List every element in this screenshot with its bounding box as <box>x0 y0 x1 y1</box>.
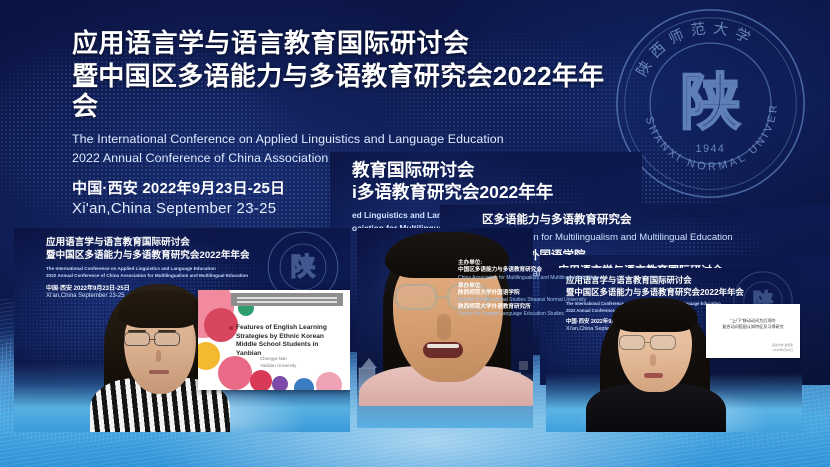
tile1-mouth <box>149 370 169 374</box>
tile3-slide-author: 延边大学 金熙永 <box>772 343 793 347</box>
slide-title: Features of English Learning Strategies … <box>236 324 340 359</box>
svg-text:陕: 陕 <box>291 252 316 281</box>
participant-tile-presenter-right[interactable]: 陕 应用语言学与语言教育国际研讨会 暨中国区多语能力与多语教育研究会2022年年… <box>546 268 802 432</box>
tile1-glasses-bridge <box>150 339 156 340</box>
title-en-line1: The International Conference on Applied … <box>72 132 612 146</box>
tile3-mouth <box>644 373 663 378</box>
svg-text:1944: 1944 <box>696 143 726 155</box>
layer2-org-en: a Association for Multilingualism and Mu… <box>482 232 830 243</box>
tile1-glasses-left-icon <box>124 332 150 346</box>
slide-blob-8 <box>294 378 314 390</box>
slide-header-line1 <box>237 297 337 299</box>
svg-text:陕: 陕 <box>680 68 740 138</box>
tile1-title-en2: 2022 Annual Conference of China Associat… <box>46 273 276 278</box>
title-cn-line1: 应用语言学与语言教育国际研讨会 <box>72 28 612 59</box>
slide-blob-6 <box>250 370 272 390</box>
slide-author-block: Chengya Nan Yanbian University <box>260 356 340 370</box>
tile1-nose <box>156 350 161 362</box>
tile2-mouth-speaking <box>423 342 463 358</box>
host-value-en: China Association for Multilingualism an… <box>458 275 540 282</box>
tile3-glasses-left-icon <box>619 335 645 350</box>
tile1-title-en1: The International Conference on Applied … <box>46 266 276 271</box>
tile2-glasses-bridge <box>437 296 447 298</box>
slide-blob-7 <box>272 376 288 390</box>
layer2-org-cn: 区多语能力与多语教育研究会 <box>482 213 830 227</box>
tile1-title-cn1: 应用语言学与语言教育国际研讨会 <box>46 237 276 249</box>
organizer2-value-en: Center for Foreign Language Education St… <box>458 311 540 318</box>
tile2-glasses-left-icon <box>395 284 437 310</box>
tile3-shared-slide: "上/下"移动动词为后项的 复合动词搭配认知特征及习得研究 延边大学 金熙永 2… <box>706 304 800 358</box>
slide-header-band <box>231 293 343 306</box>
organizer-value-en: School of International Studies Shaanxi … <box>458 297 540 304</box>
participant-tile-speaker-center[interactable] <box>357 228 533 428</box>
tile3-slide-title: "上/下"移动动词为后项的 复合动词搭配认知特征及习得研究 <box>713 318 793 330</box>
tile2-nose <box>437 314 451 340</box>
slide-blob-2 <box>204 308 238 342</box>
tile3-fringe <box>612 298 698 332</box>
slide-header-line2 <box>237 301 337 303</box>
slide-blob-4 <box>198 342 220 370</box>
tile3-title-cn2: 暨中国区多语能力与多语教育研究会2022年年会 <box>566 287 766 298</box>
tile1-title-cn2: 暨中国区多语能力与多语教育研究会2022年年会 <box>46 250 276 262</box>
layer1-title-cn2: i多语教育研究会2022年年 <box>352 182 642 203</box>
tile3-glasses-right-icon <box>650 335 676 350</box>
organizer-label: 承办单位: <box>458 283 540 290</box>
participant-tile-presenter-left[interactable]: 陕 应用语言学与语言教育国际研讨会 暨中国区多语能力与多语教育研究会2022年年… <box>14 228 350 432</box>
tile3-person-avatar <box>590 298 720 432</box>
tile3-slide-date: 2022年9月23日 <box>772 348 793 352</box>
video-conference-screen: 陕西师范大学 SHANXI NORMAL UNIVERSITY 陕 1944 应… <box>0 0 830 467</box>
organizer-credits: 主办单位: 中国区多语能力与多语教育研究会 China Association … <box>458 260 540 319</box>
tile1-shared-slide: Features of English Learning Strategies … <box>198 290 350 390</box>
slide-author: Chengya Nan <box>260 356 340 363</box>
tile3-nose <box>650 354 656 366</box>
slide-affiliation: Yanbian University <box>260 363 340 370</box>
organizer2-value-cn: 陕西师范大学外语教育研究所 <box>458 304 540 311</box>
slide-blob-5 <box>218 356 252 390</box>
tile3-glasses-bridge <box>645 342 650 343</box>
organizer-value-cn: 陕西师范大学外国语学院 <box>458 290 540 297</box>
tile1-glasses-right-icon <box>154 332 180 346</box>
tile3-slide-author-block: 延边大学 金熙永 2022年9月23日 <box>772 343 793 352</box>
university-seal-logo: 陕西师范大学 SHANXI NORMAL UNIVERSITY 陕 1944 <box>613 6 808 201</box>
tile1-fringe <box>118 290 202 328</box>
slide-blob-9 <box>316 372 342 390</box>
title-cn-line2: 暨中国区多语能力与多语教育研究会2022年年会 <box>72 61 612 122</box>
tile3-slide-title-line2: 复合动词搭配认知特征及习得研究 <box>713 324 793 330</box>
layer1-title-cn1: 教育国际研讨会 <box>352 160 642 181</box>
host-value-cn: 中国区多语能力与多语教育研究会 <box>458 267 540 274</box>
slide-bullet-marker <box>229 326 233 330</box>
